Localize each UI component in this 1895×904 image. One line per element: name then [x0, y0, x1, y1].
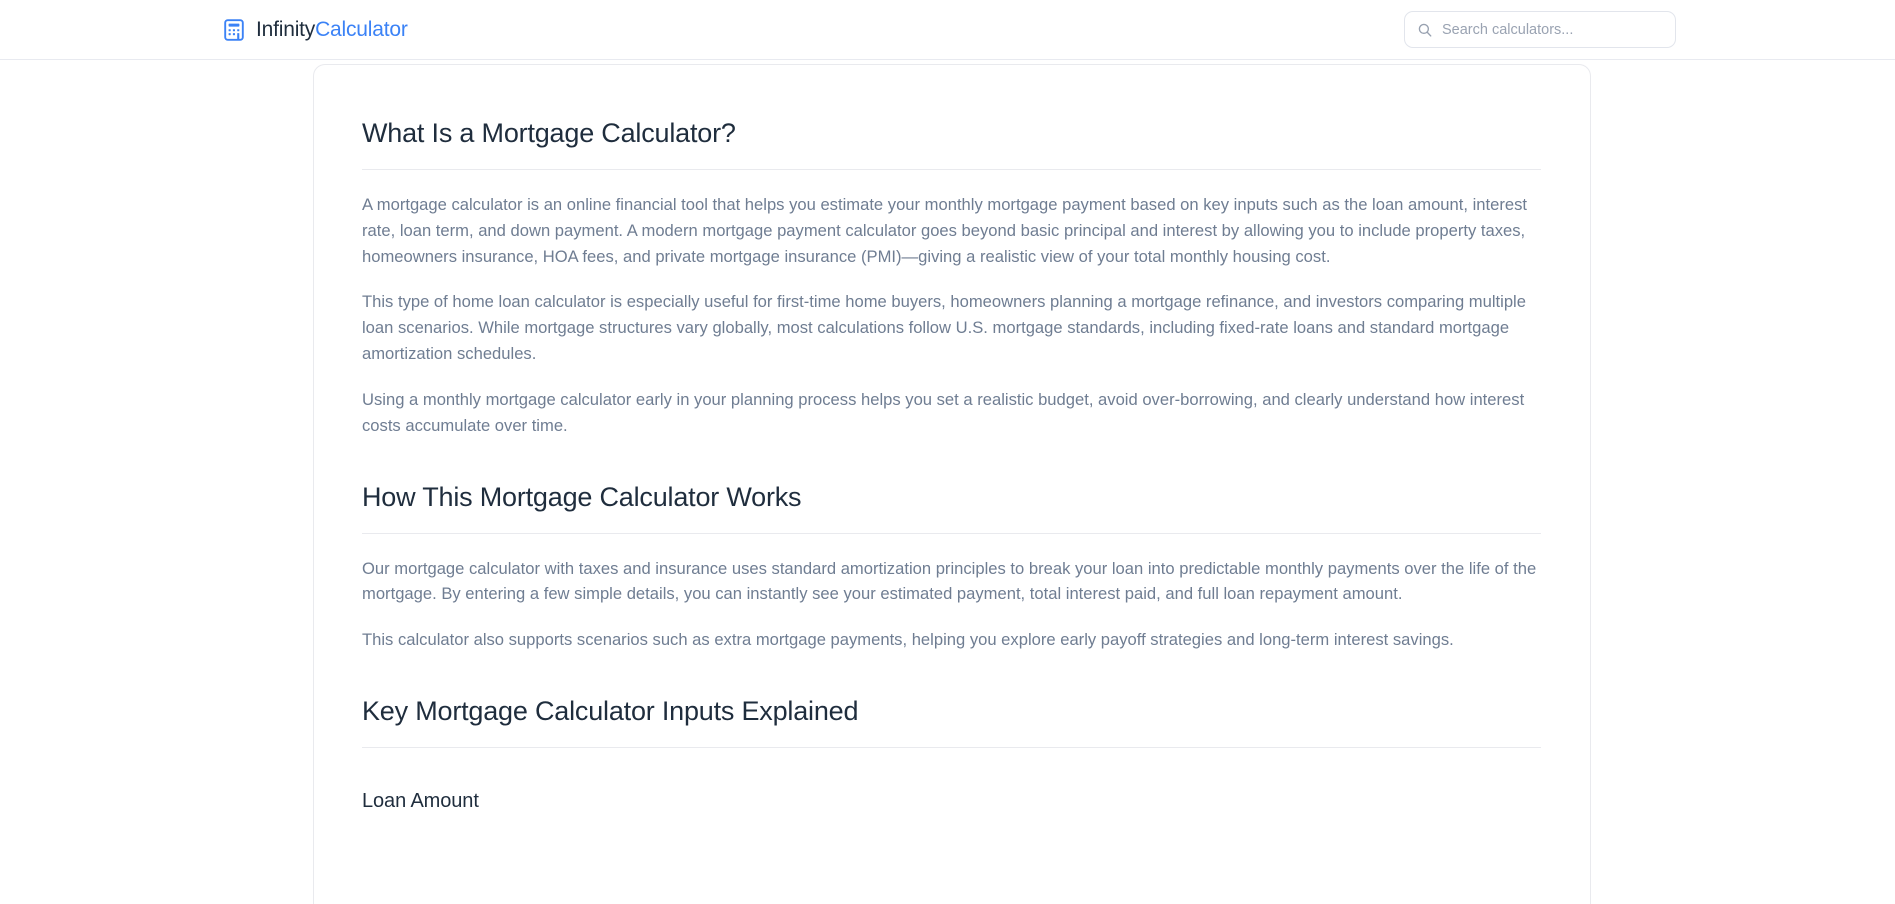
brand-name: InfinityCalculator [256, 18, 408, 42]
page-body: What Is a Mortgage Calculator? A mortgag… [0, 60, 1895, 904]
brand-name-primary: Infinity [256, 18, 315, 41]
brand-name-secondary: Calculator [315, 18, 408, 41]
section-heading-what-is: What Is a Mortgage Calculator? [362, 117, 1541, 170]
search-icon [1417, 22, 1433, 38]
subsection-heading-loan-amount: Loan Amount [362, 790, 1541, 813]
search-box[interactable] [1404, 11, 1676, 48]
search-input[interactable] [1442, 22, 1663, 38]
paragraph: Our mortgage calculator with taxes and i… [362, 556, 1541, 608]
paragraph: Using a monthly mortgage calculator earl… [362, 387, 1541, 439]
article-content-card: What Is a Mortgage Calculator? A mortgag… [313, 64, 1591, 904]
brand-logo-link[interactable]: InfinityCalculator [222, 18, 408, 42]
section-heading-how-it-works: How This Mortgage Calculator Works [362, 481, 1541, 534]
site-header: InfinityCalculator [0, 0, 1895, 60]
paragraph: This type of home loan calculator is esp… [362, 289, 1541, 367]
calculator-icon [222, 18, 246, 42]
paragraph: This calculator also supports scenarios … [362, 627, 1541, 653]
section-heading-key-inputs: Key Mortgage Calculator Inputs Explained [362, 695, 1541, 748]
paragraph: A mortgage calculator is an online finan… [362, 192, 1541, 270]
